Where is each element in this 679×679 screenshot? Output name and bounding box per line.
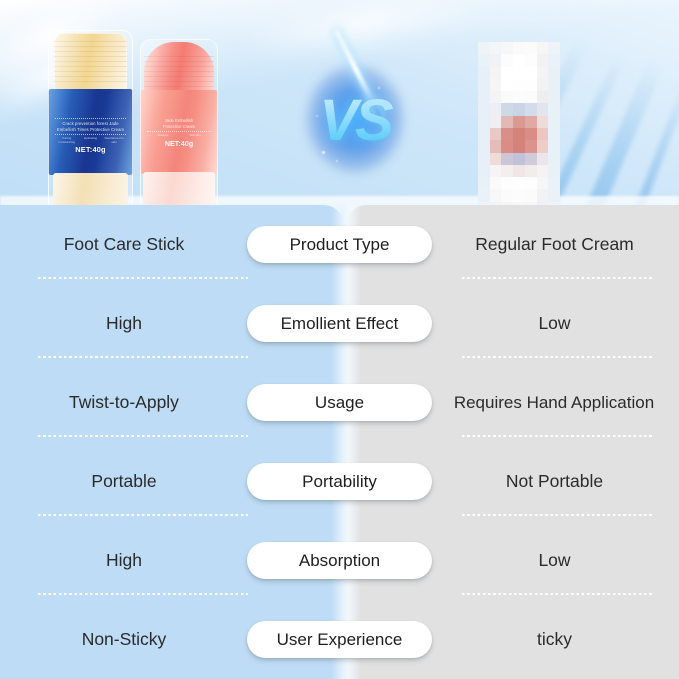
pixel-block <box>525 189 537 201</box>
feature-1: Moisture <box>147 134 179 138</box>
pixel-block <box>490 165 502 177</box>
pixel-block <box>513 128 525 140</box>
feature-1: Caring moisturizing <box>55 137 79 144</box>
product-image-pink-stick: Jade Embellish Protective Cream Moisture… <box>140 42 218 212</box>
row-left-value: Portable <box>0 442 248 521</box>
blue-stick-label: Crack prevention forest Jade Embellish T… <box>55 116 126 153</box>
pixel-block <box>501 140 513 152</box>
pixel-block <box>548 91 560 103</box>
feature-3: Nourishes the skin <box>102 137 126 144</box>
pixel-block <box>537 91 549 103</box>
pixel-block <box>537 116 549 128</box>
pixel-block <box>478 153 490 165</box>
pixel-block <box>490 103 502 115</box>
pixel-block <box>525 42 537 54</box>
pixel-block <box>501 128 513 140</box>
sparkle-icon <box>378 87 380 89</box>
pixel-block <box>501 67 513 79</box>
comparison-table: Foot Care StickProduct TypeRegular Foot … <box>0 205 679 679</box>
pixel-block <box>537 189 549 201</box>
row-divider-right <box>462 356 652 358</box>
pixel-block <box>537 79 549 91</box>
row-left-value: Foot Care Stick <box>0 205 248 284</box>
pixel-block <box>525 165 537 177</box>
pixel-block <box>513 189 525 201</box>
label-rule <box>55 118 126 119</box>
pixel-block <box>548 189 560 201</box>
sparkle-icon <box>336 160 338 162</box>
pixel-block <box>525 128 537 140</box>
pixel-block <box>513 42 525 54</box>
pixel-block <box>490 79 502 91</box>
row-attribute-pill: Portability <box>247 463 432 500</box>
pixel-block <box>525 79 537 91</box>
row-divider-right <box>462 435 652 437</box>
row-left-value: Non-Sticky <box>0 600 248 679</box>
label-features: Moisture Soft skin <box>147 134 211 138</box>
pixel-block <box>548 177 560 189</box>
pixel-block <box>537 54 549 66</box>
pixel-block <box>490 91 502 103</box>
pixel-block <box>513 91 525 103</box>
pixel-block <box>501 177 513 189</box>
pixel-block <box>490 116 502 128</box>
row-divider-left <box>38 593 248 595</box>
pixelation-mosaic <box>478 42 560 214</box>
label-features: Caring moisturizing Hydrating Nourishes … <box>55 137 126 144</box>
versus-badge: VS <box>292 57 418 183</box>
pixel-block <box>490 153 502 165</box>
row-divider-right <box>462 593 652 595</box>
pixel-block <box>501 116 513 128</box>
table-row: Non-StickyUser Experienceticky <box>0 600 679 679</box>
table-row: HighAbsorptionLow <box>0 521 679 600</box>
pixel-block <box>501 42 513 54</box>
row-right-value: Not Portable <box>430 442 679 521</box>
pixel-block <box>478 91 490 103</box>
pixel-block <box>513 54 525 66</box>
pixel-block <box>525 140 537 152</box>
label-rule <box>147 131 211 132</box>
pixel-block <box>525 103 537 115</box>
row-right-value: Low <box>430 284 679 363</box>
pixel-block <box>490 54 502 66</box>
table-row: Twist-to-ApplyUsageRequires Hand Applica… <box>0 363 679 442</box>
net-weight: NET:40g <box>147 141 211 147</box>
sparkle-icon <box>316 115 318 117</box>
pixel-block <box>548 128 560 140</box>
row-divider-left <box>38 435 248 437</box>
row-left-value: High <box>0 284 248 363</box>
table-row: HighEmollient EffectLow <box>0 284 679 363</box>
pixel-block <box>478 54 490 66</box>
product-image-competitor-censored <box>478 42 560 214</box>
pixel-block <box>537 103 549 115</box>
pixel-block <box>525 177 537 189</box>
pixel-block <box>548 54 560 66</box>
pixel-block <box>501 153 513 165</box>
pixel-block <box>478 116 490 128</box>
pixel-block <box>525 153 537 165</box>
pixel-block <box>478 165 490 177</box>
net-weight: NET:40g <box>55 147 126 153</box>
pixel-block <box>478 67 490 79</box>
row-attribute-pill: User Experience <box>247 621 432 658</box>
pixel-block <box>513 165 525 177</box>
row-attribute-pill: Emollient Effect <box>247 305 432 342</box>
pixel-block <box>513 116 525 128</box>
pixel-block <box>537 128 549 140</box>
row-right-value: Regular Foot Cream <box>430 205 679 284</box>
pixel-block <box>501 189 513 201</box>
row-attribute-pill: Usage <box>247 384 432 421</box>
pixel-block <box>513 79 525 91</box>
product-image-blue-stick: Crack prevention forest Jade Embellish T… <box>48 33 133 213</box>
versus-label: VS <box>292 57 418 183</box>
pixel-block <box>537 67 549 79</box>
pixel-block <box>548 153 560 165</box>
pixel-block <box>537 177 549 189</box>
row-right-value: Requires Hand Application <box>428 363 679 442</box>
row-divider-right <box>462 277 652 279</box>
row-left-value: High <box>0 521 248 600</box>
pixel-block <box>490 128 502 140</box>
row-divider-right <box>462 514 652 516</box>
pixel-block <box>537 140 549 152</box>
pixel-block <box>525 54 537 66</box>
pixel-block <box>537 165 549 177</box>
row-right-value: ticky <box>430 600 679 679</box>
pixel-block <box>537 153 549 165</box>
pixel-block <box>478 140 490 152</box>
row-attribute-pill: Product Type <box>247 226 432 263</box>
pixel-block <box>478 103 490 115</box>
pixel-block <box>490 177 502 189</box>
label-line-2: Protective Cream <box>147 124 211 130</box>
label-line-2: Embellish Times Protective Cream <box>55 127 126 133</box>
table-row: Foot Care StickProduct TypeRegular Foot … <box>0 205 679 284</box>
pixel-block <box>548 103 560 115</box>
pixel-block <box>548 116 560 128</box>
pixel-block <box>501 79 513 91</box>
row-divider-left <box>38 356 248 358</box>
pixel-block <box>478 177 490 189</box>
pixel-block <box>548 165 560 177</box>
sparkle-icon <box>322 151 325 154</box>
pixel-block <box>478 42 490 54</box>
pixel-block <box>548 67 560 79</box>
pixel-block <box>537 42 549 54</box>
pixel-block <box>513 67 525 79</box>
pixel-block <box>490 42 502 54</box>
pixel-block <box>478 189 490 201</box>
pixel-block <box>513 177 525 189</box>
pixel-block <box>525 67 537 79</box>
pixel-block <box>501 54 513 66</box>
pixel-block <box>478 79 490 91</box>
row-attribute-pill: Absorption <box>247 542 432 579</box>
feature-2: Soft skin <box>179 134 211 138</box>
pixel-block <box>490 140 502 152</box>
light-wisp-icon <box>249 0 481 54</box>
pixel-block <box>548 42 560 54</box>
pixel-block <box>548 140 560 152</box>
feature-2: Hydrating <box>79 137 103 144</box>
pixel-block <box>501 91 513 103</box>
pixel-block <box>513 103 525 115</box>
pixel-block <box>490 189 502 201</box>
pixel-block <box>490 67 502 79</box>
label-line-1: Crack prevention forest Jade <box>55 121 126 127</box>
pixel-block <box>513 140 525 152</box>
pink-stick-label: Jade Embellish Protective Cream Moisture… <box>147 118 211 146</box>
pixel-block <box>501 165 513 177</box>
row-right-value: Low <box>430 521 679 600</box>
table-row: PortablePortabilityNot Portable <box>0 442 679 521</box>
pixel-block <box>501 103 513 115</box>
pixel-block <box>548 79 560 91</box>
pixel-block <box>525 91 537 103</box>
pixel-block <box>478 128 490 140</box>
row-divider-left <box>38 277 248 279</box>
pixel-block <box>513 153 525 165</box>
comparison-infographic: Crack prevention forest Jade Embellish T… <box>0 0 679 679</box>
row-divider-left <box>38 514 248 516</box>
row-left-value: Twist-to-Apply <box>0 363 248 442</box>
pixel-block <box>525 116 537 128</box>
